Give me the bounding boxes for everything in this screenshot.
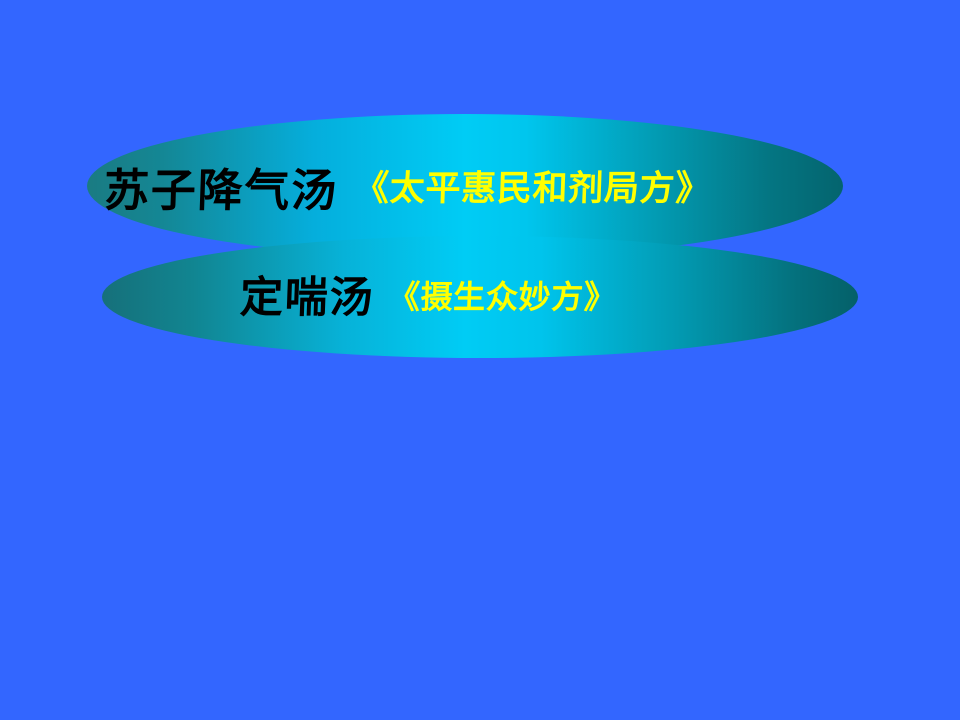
presentation-slide: 苏子降气汤 《太平惠民和剂局方》 定喘汤 《摄生众妙方》 <box>0 0 960 720</box>
ellipse-shapes-layer <box>0 0 960 720</box>
formula-name-2: 定喘汤 <box>239 277 375 320</box>
formula-row-shaoziJiangqitang: 苏子降气汤 《太平惠民和剂局方》 <box>104 162 711 218</box>
formula-source-2: 《摄生众妙方》 <box>388 281 618 315</box>
formula-source-1: 《太平惠民和剂局方》 <box>353 172 711 209</box>
formula-name-1: 苏子降气汤 <box>103 168 339 213</box>
formula-row-dingchuantang: 定喘汤 《摄生众妙方》 <box>240 272 617 324</box>
